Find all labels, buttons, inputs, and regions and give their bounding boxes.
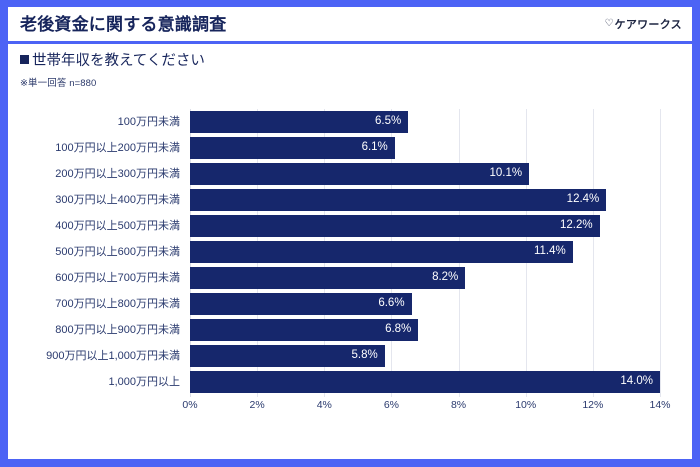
bar-value-label: 12.2% [560,220,600,232]
category-label: 900万円以上1,000万円未満 [8,351,186,362]
bar-value-label: 6.5% [375,116,408,128]
category-label: 300万円以上400万円未満 [8,195,186,206]
bar-track: 6.6% [190,291,660,317]
bar[interactable]: 6.6% [190,293,412,315]
bar-track: 11.4% [190,239,660,265]
page-title: 老後資金に関する意識調査 [20,16,226,33]
bar-track: 8.2% [190,265,660,291]
x-axis-tick: 2% [250,400,265,411]
bar-value-label: 6.8% [385,324,418,336]
x-axis-tick: 0% [182,400,197,411]
bar-track: 10.1% [190,161,660,187]
x-axis-tick: 10% [515,400,536,411]
category-label: 100万円以上200万円未満 [8,143,186,154]
bar-track: 6.5% [190,109,660,135]
bar[interactable]: 6.5% [190,111,408,133]
bar-track: 5.8% [190,343,660,369]
category-label: 100万円未満 [8,117,186,128]
chart-rows: 100万円未満6.5%100万円以上200万円未満6.1%200万円以上300万… [8,109,692,395]
chart-row: 500万円以上600万円未満11.4% [8,239,692,265]
x-axis-tick: 14% [649,400,670,411]
bar[interactable]: 12.2% [190,215,600,237]
bar-track: 12.4% [190,187,660,213]
brand-logo: ♡ ケアワークス [605,16,682,32]
bar-track: 14.0% [190,369,660,395]
bar-track: 12.2% [190,213,660,239]
subheading-block: 世帯年収を教えてください ※単一回答 n=880 [8,44,692,89]
bullet-square-icon [20,55,29,64]
chart-subtitle-text: 世帯年収を教えてください [32,53,205,69]
x-axis-tick: 4% [317,400,332,411]
bar-track: 6.1% [190,135,660,161]
bar-value-label: 14.0% [620,376,660,388]
bar[interactable]: 6.1% [190,137,395,159]
category-label: 800万円以上900万円未満 [8,325,186,336]
bar-track: 6.8% [190,317,660,343]
chart-row: 400万円以上500万円未満12.2% [8,213,692,239]
chart-row: 100万円未満6.5% [8,109,692,135]
chart-row: 800万円以上900万円未満6.8% [8,317,692,343]
chart-row: 1,000万円以上14.0% [8,369,692,395]
slide-header: 老後資金に関する意識調査 ♡ ケアワークス [8,7,692,44]
bar[interactable]: 10.1% [190,163,529,185]
bar[interactable]: 8.2% [190,267,465,289]
survey-note: ※単一回答 n=880 [20,75,692,89]
bar-value-label: 5.8% [351,350,384,362]
chart-row: 100万円以上200万円未満6.1% [8,135,692,161]
bar-value-label: 8.2% [432,272,465,284]
bar-chart: 100万円未満6.5%100万円以上200万円未満6.1%200万円以上300万… [8,105,692,425]
bar-value-label: 6.1% [362,142,395,154]
chart-row: 700万円以上800万円未満6.6% [8,291,692,317]
category-label: 600万円以上700万円未満 [8,273,186,284]
chart-row: 900万円以上1,000万円未満5.8% [8,343,692,369]
bar[interactable]: 5.8% [190,345,385,367]
bar-value-label: 10.1% [489,168,529,180]
slide-panel: 老後資金に関する意識調査 ♡ ケアワークス 世帯年収を教えてください ※単一回答… [8,7,692,459]
bar[interactable]: 6.8% [190,319,418,341]
bar[interactable]: 14.0% [190,371,660,393]
chart-row: 600万円以上700万円未満8.2% [8,265,692,291]
chart-subtitle: 世帯年収を教えてください [20,53,692,70]
brand-name: ケアワークス [615,16,682,32]
category-label: 400万円以上500万円未満 [8,221,186,232]
bar[interactable]: 11.4% [190,241,573,263]
bar[interactable]: 12.4% [190,189,606,211]
x-axis-tick: 6% [384,400,399,411]
category-label: 1,000万円以上 [8,377,186,388]
bar-value-label: 6.6% [378,298,411,310]
x-axis: 0%2%4%6%8%10%12%14% [190,397,660,417]
slide-frame: 老後資金に関する意識調査 ♡ ケアワークス 世帯年収を教えてください ※単一回答… [0,0,700,467]
x-axis-tick: 8% [451,400,466,411]
bar-value-label: 11.4% [534,246,573,258]
category-label: 500万円以上600万円未満 [8,247,186,258]
chart-row: 200万円以上300万円未満10.1% [8,161,692,187]
category-label: 700万円以上800万円未満 [8,299,186,310]
category-label: 200万円以上300万円未満 [8,169,186,180]
heart-icon: ♡ [605,19,614,29]
chart-row: 300万円以上400万円未満12.4% [8,187,692,213]
bar-value-label: 12.4% [567,194,607,206]
x-axis-tick: 12% [582,400,603,411]
